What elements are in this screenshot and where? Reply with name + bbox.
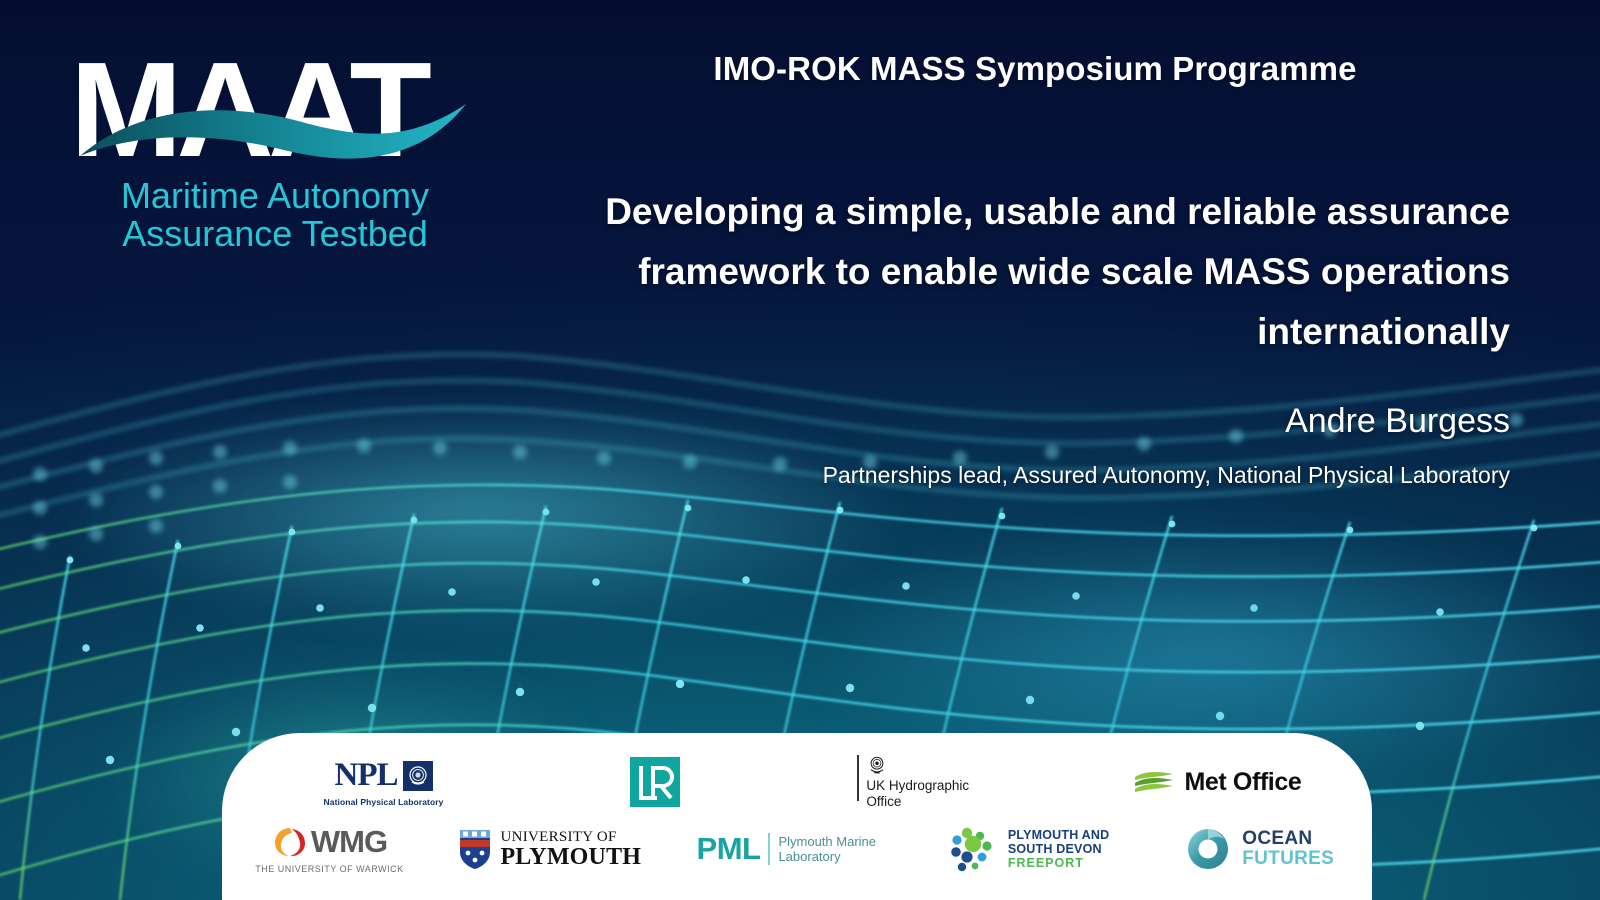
npl-wordmark: NPL xyxy=(335,757,398,794)
plymouth-shield-icon xyxy=(458,828,492,870)
logo-uk-hydrographic-office: UK Hydrographic Office xyxy=(765,755,1062,809)
ocean-futures-line1: OCEAN xyxy=(1242,829,1334,849)
ocean-futures-ring-icon xyxy=(1184,825,1232,873)
met-office-wordmark: Met Office xyxy=(1185,768,1302,797)
pml-subtitle-line2: Laboratory xyxy=(778,849,876,864)
npl-crest-icon xyxy=(403,761,433,791)
slide-title: Developing a simple, usable and reliable… xyxy=(560,182,1510,362)
plymouth-name-line1: UNIVERSITY OF xyxy=(500,830,641,845)
svg-text:MAAT: MAAT xyxy=(70,38,431,185)
plymouth-name-line2: PLYMOUTH xyxy=(500,845,641,869)
maat-tagline-line1: Maritime Autonomy xyxy=(121,175,429,216)
presentation-slide: MAAT Maritime Autonomy Assurance Testbed… xyxy=(0,0,1600,900)
ocean-futures-line2: FUTURES xyxy=(1242,849,1334,869)
freeport-name-line1: PLYMOUTH AND xyxy=(1008,828,1109,842)
partner-logo-row-1: NPL National Physical Laboratory xyxy=(222,753,1372,811)
logo-npl: NPL National Physical Laboratory xyxy=(222,757,545,807)
npl-subtitle: National Physical Laboratory xyxy=(324,797,444,807)
wmg-subtitle: THE UNIVERSITY OF WARWICK xyxy=(255,864,403,874)
logo-lloyds-register xyxy=(545,757,765,807)
programme-eyebrow: IMO-ROK MASS Symposium Programme xyxy=(560,50,1510,88)
wmg-wordmark: WMG xyxy=(311,824,387,860)
partner-logo-row-2: WMG THE UNIVERSITY OF WARWICK xyxy=(222,819,1372,879)
freeport-name-line2: SOUTH DEVON xyxy=(1008,842,1109,856)
freeport-name-line3: FREEPORT xyxy=(1008,856,1109,870)
presenter-name: Andre Burgess xyxy=(560,402,1510,441)
logo-plymouth-south-devon-freeport: PLYMOUTH AND SOUTH DEVON FREEPORT xyxy=(910,824,1146,874)
partner-logo-panel: NPL National Physical Laboratory xyxy=(222,733,1372,900)
maat-logo: MAAT Maritime Autonomy Assurance Testbed xyxy=(70,38,480,253)
freeport-cluster-icon xyxy=(947,824,999,874)
logo-plymouth-marine-laboratory: PML Plymouth Marine Laboratory xyxy=(663,831,910,867)
logo-university-of-plymouth: UNIVERSITY OF PLYMOUTH xyxy=(437,828,663,870)
maat-tagline-line2: Assurance Testbed xyxy=(122,213,428,253)
logo-wmg-warwick: WMG THE UNIVERSITY OF WARWICK xyxy=(222,824,437,874)
presenter-affiliation: Partnerships lead, Assured Autonomy, Nat… xyxy=(520,462,1510,489)
ukho-name-line2: Office xyxy=(866,794,969,809)
ukho-name-line1: UK Hydrographic xyxy=(866,778,969,793)
ukho-divider xyxy=(857,755,859,801)
wmg-swirl-icon xyxy=(272,825,308,859)
logo-ocean-futures: OCEAN FUTURES xyxy=(1146,825,1372,873)
lr-monogram-icon xyxy=(630,757,680,807)
logo-met-office: Met Office xyxy=(1062,768,1372,797)
ukho-crest-icon xyxy=(866,755,888,777)
pml-subtitle-line1: Plymouth Marine xyxy=(778,834,876,849)
pml-wordmark: PML xyxy=(697,831,761,867)
pml-divider xyxy=(768,833,770,865)
met-office-wave-icon xyxy=(1133,768,1177,796)
